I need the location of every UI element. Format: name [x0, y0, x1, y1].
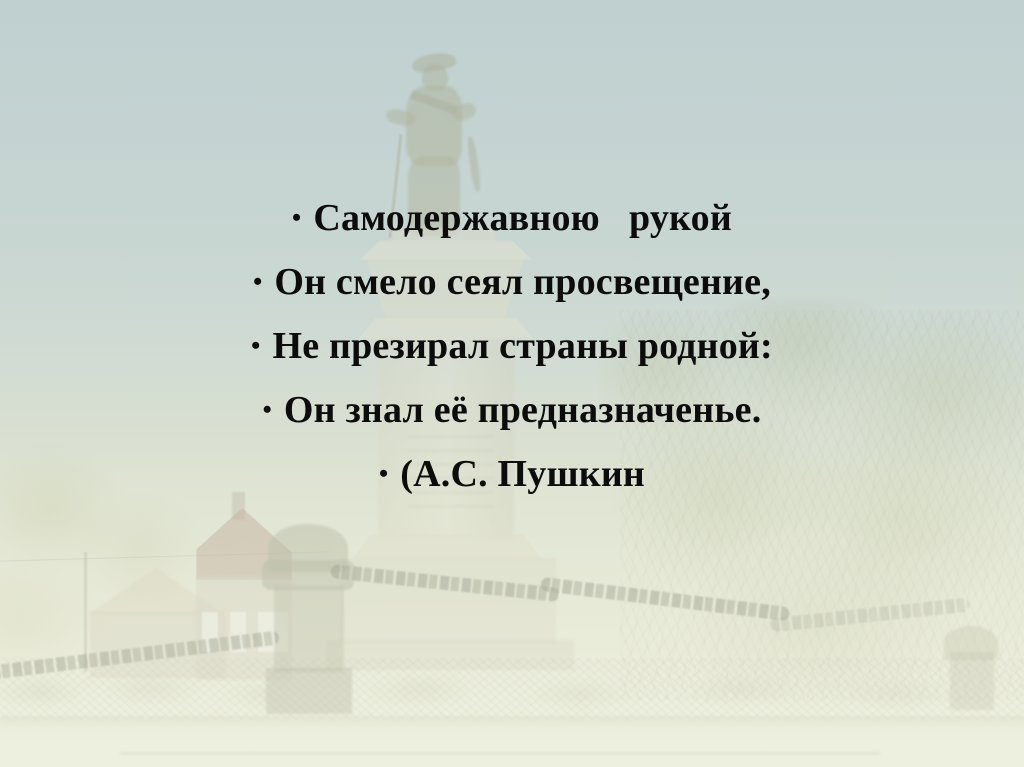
bullet-line-2-text: Он смело сеял просвещение,	[274, 261, 771, 303]
bullet-icon: •	[263, 395, 284, 424]
hedge-texture	[0, 658, 1024, 720]
bullet-line-3-text: Не презирал страны родной:	[272, 325, 772, 367]
pavement-seam	[120, 752, 880, 755]
statue-sword	[466, 136, 482, 193]
bullet-icon: •	[253, 267, 274, 296]
pedestal-base-top	[352, 534, 542, 560]
bullet-icon: •	[379, 459, 400, 488]
bullet-line-3: •Не презирал страны родной:	[0, 314, 1024, 378]
bullet-line-1: •Самодержавною рукой	[0, 186, 1024, 250]
pavement	[0, 726, 1024, 767]
bullet-icon: •	[251, 331, 272, 360]
statue-tricorn-hat	[411, 51, 457, 75]
bullet-line-5: •(А.С. Пушкин	[0, 442, 1024, 506]
bullet-line-2: •Он смело сеял просвещение,	[0, 250, 1024, 314]
bullet-line-5-text: (А.С. Пушкин	[400, 453, 645, 495]
presentation-slide: •Самодержавною рукой •Он смело сеял прос…	[0, 0, 1024, 767]
bullet-icon: •	[292, 203, 313, 232]
bullet-line-4: •Он знал её предназначенье.	[0, 378, 1024, 442]
slide-body-text: •Самодержавною рукой •Он смело сеял прос…	[0, 186, 1024, 506]
bullet-line-1-text: Самодержавною рукой	[313, 197, 732, 239]
bullet-line-4-text: Он знал её предназначенье.	[284, 389, 762, 431]
